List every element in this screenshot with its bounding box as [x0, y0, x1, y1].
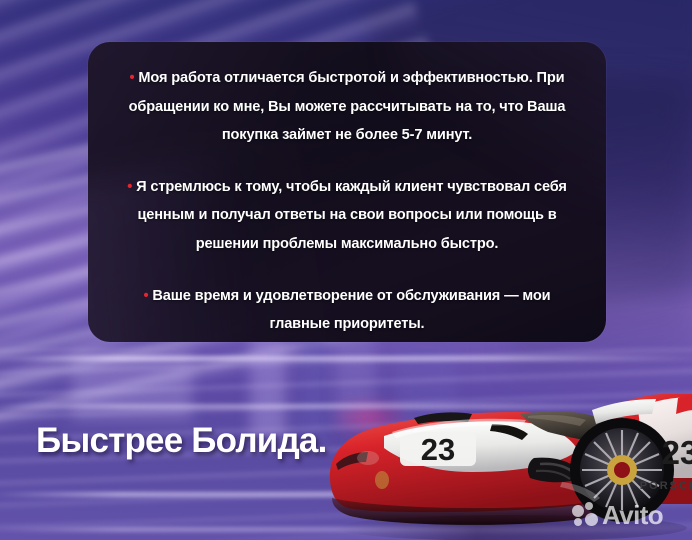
bullet-marker: •: [144, 288, 149, 304]
bullet-marker: •: [130, 70, 135, 86]
avito-four-dots-icon: [572, 502, 598, 528]
description-paragraph: • Ваше время и удовлетворение от обслужи…: [114, 282, 580, 339]
car-hood-number: 23: [421, 432, 455, 467]
description-paragraph-text: Моя работа отличается быстротой и эффект…: [129, 70, 566, 143]
description-panel-content: • Моя работа отличается быстротой и эффе…: [88, 42, 606, 342]
avito-watermark: Avito: [572, 502, 663, 528]
car-brand-text: PORSCHE: [640, 480, 692, 492]
car-side-number: 23: [662, 434, 692, 471]
banner-canvas: 23: [0, 0, 692, 540]
headline-text: Быстрее Болида.: [36, 421, 327, 461]
avito-brand-text: Avito: [602, 502, 663, 528]
description-paragraph-text: Я стремлюсь к тому, чтобы каждый клиент …: [136, 179, 567, 252]
bullet-marker: •: [127, 179, 132, 195]
description-panel: • Моя работа отличается быстротой и эффе…: [88, 42, 606, 342]
description-paragraph-text: Ваше время и удовлетворение от обслужива…: [152, 288, 550, 333]
description-paragraph: • Моя работа отличается быстротой и эффе…: [114, 64, 580, 150]
description-paragraph: • Я стремлюсь к тому, чтобы каждый клиен…: [114, 173, 580, 259]
